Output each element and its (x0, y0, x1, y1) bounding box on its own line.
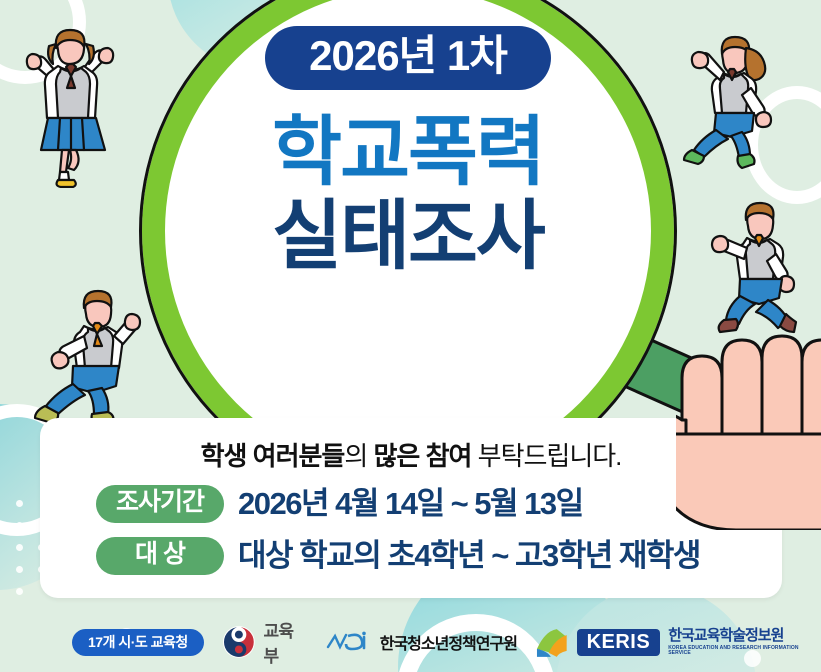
survey-period-label: 조사기간 (96, 485, 224, 523)
appeal-bold-2: 많은 참여 (374, 441, 472, 471)
survey-period-row: 조사기간 2026년 4월 14일 ~ 5월 13일 (40, 485, 782, 523)
appeal-normal-1: 의 (344, 441, 373, 471)
moe-logo-group: 교육부 (222, 617, 308, 667)
page-title-line2: 실태조사 (272, 196, 544, 278)
survey-period-value: 2026년 4월 14일 ~ 5월 13일 (238, 488, 583, 519)
page-title-line1: 학교폭력 (272, 112, 544, 194)
round-badge: 2026년 1차 (265, 26, 551, 90)
hand-holding-magnifier-illustration (676, 300, 821, 530)
target-value: 대상 학교의 초4학년 ~ 고3학년 재학생 (238, 540, 700, 571)
keris-label-kr: 한국교육학술정보원 (668, 628, 821, 644)
keris-wordmark: KERIS (577, 629, 661, 656)
info-card: 학생 여러분들의 많은 참여 부탁드립니다. 조사기간 2026년 4월 14일… (40, 418, 782, 598)
target-row: 대 상 대상 학교의 초4학년 ~ 고3학년 재학생 (40, 537, 782, 575)
keris-label-group: 한국교육학술정보원 KOREA EDUCATION AND RESEARCH I… (668, 628, 821, 656)
student-running-ponytail-illustration (680, 30, 790, 180)
student-girl-cheering-illustration (18, 28, 128, 188)
nypi-label: 한국청소년정책연구원 (380, 630, 517, 654)
education-offices-badge: 17개 시·도 교육청 (72, 629, 204, 656)
taegeuk-icon (222, 625, 256, 659)
moe-label: 교육부 (264, 617, 308, 667)
poster-root: 2026년 1차 학교폭력 실태조사 학생 여러분들의 많은 참여 부탁드립니다… (0, 0, 821, 672)
target-label: 대 상 (96, 537, 224, 575)
nypi-logo-icon (326, 631, 372, 653)
appeal-bold-1: 학생 여러분들 (201, 441, 345, 471)
footer-logos: 17개 시·도 교육청 교육부 한국청소년정책연구원 (0, 612, 821, 672)
keris-logo-group: KERIS 한국교육학술정보원 KOREA EDUCATION AND RESE… (535, 627, 821, 657)
keris-label-en: KOREA EDUCATION AND RESEARCH INFORMATION… (668, 646, 821, 656)
keris-leaf-icon (535, 627, 569, 657)
appeal-text: 학생 여러분들의 많은 참여 부탁드립니다. (40, 442, 782, 471)
appeal-normal-2: 부탁드립니다. (471, 441, 621, 471)
nypi-logo-group: 한국청소년정책연구원 (326, 630, 517, 654)
